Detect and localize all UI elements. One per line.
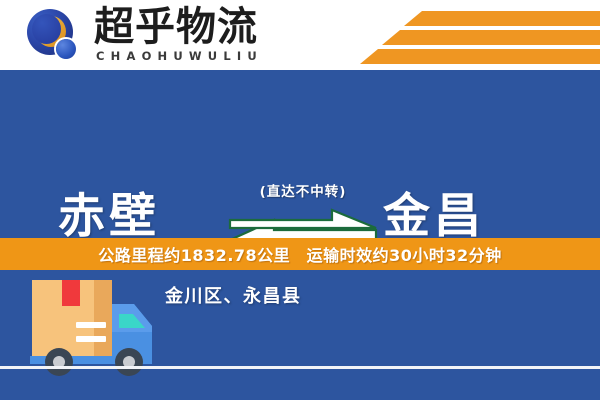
chaohu-logo-circle-moon-icon xyxy=(27,9,79,61)
stripe-2 xyxy=(382,30,600,45)
brand-name-cn: 超乎物流 xyxy=(94,4,258,50)
destination-districts: 金川区、永昌县 xyxy=(165,282,302,308)
stripe-1 xyxy=(404,11,600,26)
brand-name-en: CHAOHUWULIU xyxy=(96,50,263,63)
logo-accent-dot xyxy=(56,39,76,59)
banner-header: 超乎物流 CHAOHUWULIU xyxy=(0,0,600,70)
logo-moon-inner-cut xyxy=(32,14,61,44)
route-info-bar: 公路里程约1832.78公里 运输时效约30小时32分钟 xyxy=(0,238,600,270)
cargo-label-line-2 xyxy=(76,336,106,342)
direct-shipping-note: (直达不中转) xyxy=(228,183,378,201)
cargo-box-shade xyxy=(94,280,112,356)
stripe-3 xyxy=(360,49,600,64)
road-line-icon xyxy=(0,366,600,369)
cargo-tape xyxy=(62,280,80,306)
bottom-panel: 金川区、永昌县 xyxy=(0,270,600,400)
logistics-route-banner: 超乎物流 CHAOHUWULIU 赤壁 (直达不中转) 【往返运输】 金昌 公路… xyxy=(0,0,600,400)
header-stripes-decoration xyxy=(320,0,600,70)
destination-city-name: 金昌 xyxy=(383,192,485,242)
distance-and-duration-text: 公路里程约1832.78公里 运输时效约30小时32分钟 xyxy=(98,242,501,266)
route-panel: 赤壁 (直达不中转) 【往返运输】 金昌 xyxy=(0,70,600,238)
arrow-right-upper xyxy=(230,210,376,228)
origin-city-name: 赤壁 xyxy=(58,192,160,242)
cargo-label-line-1 xyxy=(76,322,106,328)
